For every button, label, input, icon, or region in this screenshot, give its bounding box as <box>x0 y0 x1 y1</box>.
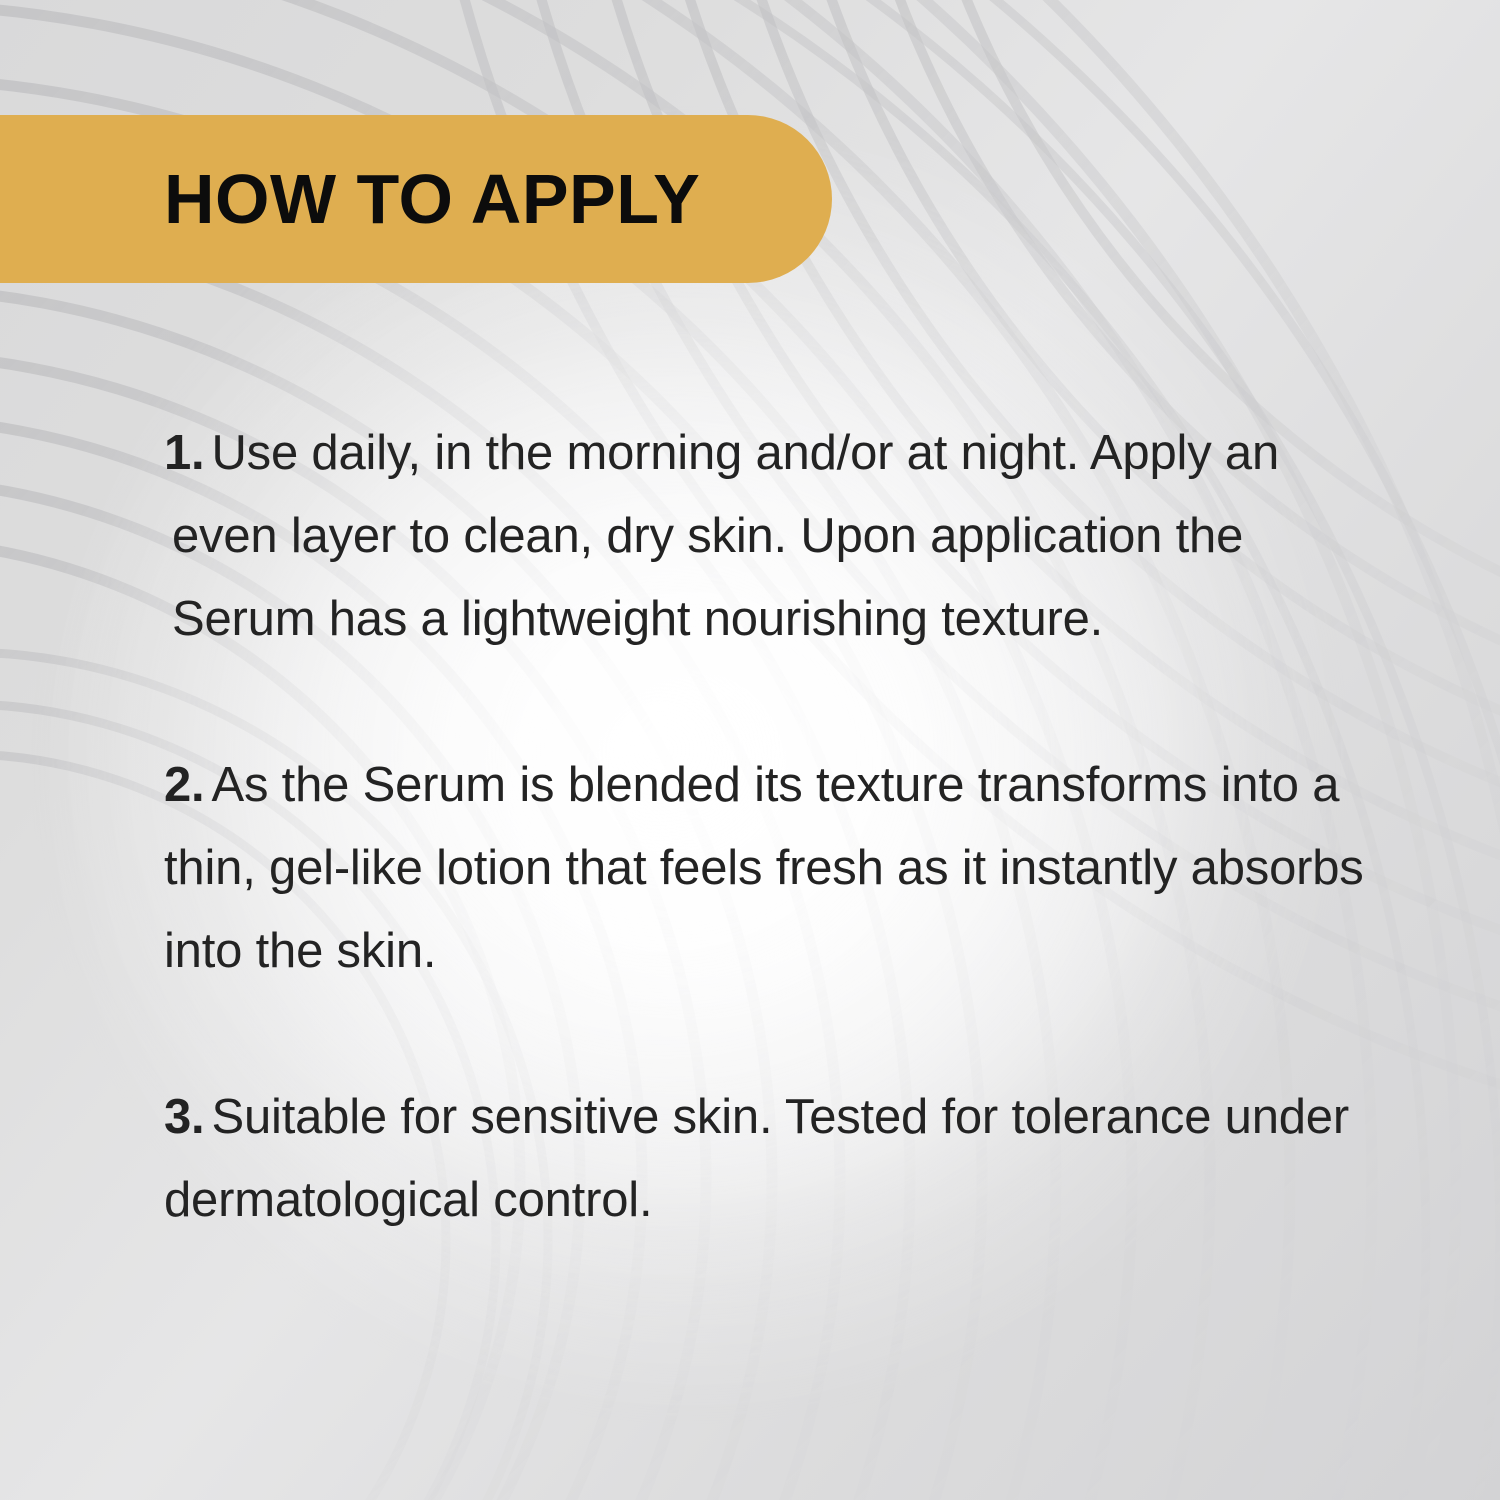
instruction-step-3: 3.Suitable for sensitive skin. Tested fo… <box>164 1076 1394 1242</box>
step-number-1: 1. <box>164 426 204 480</box>
step-text-2: As the Serum is blended its texture tran… <box>164 758 1364 978</box>
step-number-2: 2. <box>164 758 204 812</box>
step-text-3: Suitable for sensitive skin. Tested for … <box>164 1090 1349 1227</box>
page-title: HOW TO APPLY <box>164 164 700 234</box>
instruction-list: 1.Use daily, in the morning and/or at ni… <box>164 412 1394 1242</box>
instruction-step-1: 1.Use daily, in the morning and/or at ni… <box>164 412 1394 661</box>
step-text-1: Use daily, in the morning and/or at nigh… <box>172 426 1279 646</box>
instruction-step-2: 2.As the Serum is blended its texture tr… <box>164 744 1394 993</box>
how-to-apply-card: HOW TO APPLY 1.Use daily, in the morning… <box>0 0 1500 1500</box>
step-number-3: 3. <box>164 1090 204 1144</box>
how-to-apply-banner: HOW TO APPLY <box>0 115 832 283</box>
